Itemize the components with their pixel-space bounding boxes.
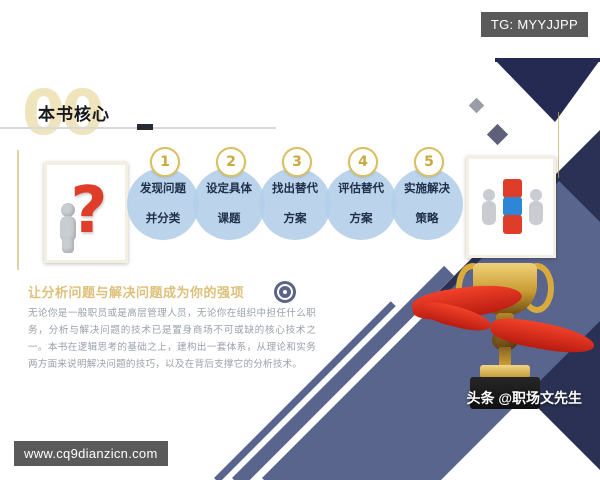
step-badge-3: 3 xyxy=(282,147,312,177)
process-circle-1[interactable]: 发现问题并分类 xyxy=(127,168,199,240)
process-circle-4[interactable]: 评估替代方案 xyxy=(325,168,397,240)
puzzle-teamwork-card xyxy=(466,156,556,258)
process-circle-3-line2: 方案 xyxy=(268,212,322,227)
target-icon xyxy=(274,281,296,303)
step-badge-4: 4 xyxy=(348,147,378,177)
diamond-decoration-small xyxy=(469,98,485,114)
telegram-watermark: TG: MYYJJPP xyxy=(481,12,588,37)
puzzle-piece-blue-icon xyxy=(503,197,522,216)
navy-triangle-cap xyxy=(495,58,600,62)
gold-vertical-line-right xyxy=(558,112,560,178)
process-circle-2-line2: 课题 xyxy=(202,212,256,227)
step-badge-1: 1 xyxy=(150,147,180,177)
process-circle-3-line1: 找出替代 xyxy=(268,182,322,197)
process-circle-2-line1: 设定具体 xyxy=(202,182,256,197)
process-circle-5[interactable]: 实施解决策略 xyxy=(391,168,463,240)
puzzle-piece-red-bottom-icon xyxy=(503,215,522,234)
process-circle-5-line1: 实施解决 xyxy=(400,182,454,197)
header-dash-marker xyxy=(137,124,153,130)
process-circle-4-line2: 方案 xyxy=(334,212,388,227)
slide-canvas: 00 本书核心 ? 发现问题并分类 设定具体课题 找出替代方案 评估替代方案 实… xyxy=(0,0,600,480)
navy-triangle-decoration xyxy=(495,60,600,122)
process-circle-4-line1: 评估替代 xyxy=(334,182,388,197)
puzzle-piece-red-top-icon xyxy=(503,179,522,198)
subtitle-row: 让分析问题与解决问题成为你的强项 xyxy=(28,282,244,301)
figure-left-head-icon xyxy=(483,189,495,201)
header-rule-left xyxy=(0,127,140,129)
toutiao-watermark: 头条 @职场文先生 xyxy=(466,388,582,408)
body-paragraph: 无论你是一般职员或是高层管理人员，无论你在组织中担任什么职务，分析与解决问题的技… xyxy=(28,305,316,373)
process-circle-1-line1: 发现问题 xyxy=(136,182,190,197)
question-mark-card: ? xyxy=(44,162,128,263)
figure-head-icon xyxy=(61,203,75,217)
figure-left-body-icon xyxy=(482,201,496,225)
step-badge-5: 5 xyxy=(414,147,444,177)
figure-leg-icon xyxy=(62,237,74,253)
figure-right-head-icon xyxy=(530,189,542,201)
process-circle-2[interactable]: 设定具体课题 xyxy=(193,168,265,240)
subtitle-text: 让分析问题与解决问题成为你的强项 xyxy=(28,282,244,301)
process-circle-5-line2: 策略 xyxy=(400,212,454,227)
figure-right-body-icon xyxy=(529,201,543,225)
gold-vertical-line-left xyxy=(17,150,19,270)
header-rule-right xyxy=(138,127,276,129)
step-badge-2: 2 xyxy=(216,147,246,177)
target-ring-icon xyxy=(277,284,293,300)
target-center-dot-icon xyxy=(283,290,287,294)
page-title: 本书核心 xyxy=(38,100,110,125)
url-watermark: www.cq9dianzicn.com xyxy=(14,441,168,466)
process-circle-3[interactable]: 找出替代方案 xyxy=(259,168,331,240)
process-circle-1-line2: 并分类 xyxy=(136,212,190,227)
diamond-decoration-large xyxy=(487,124,508,145)
